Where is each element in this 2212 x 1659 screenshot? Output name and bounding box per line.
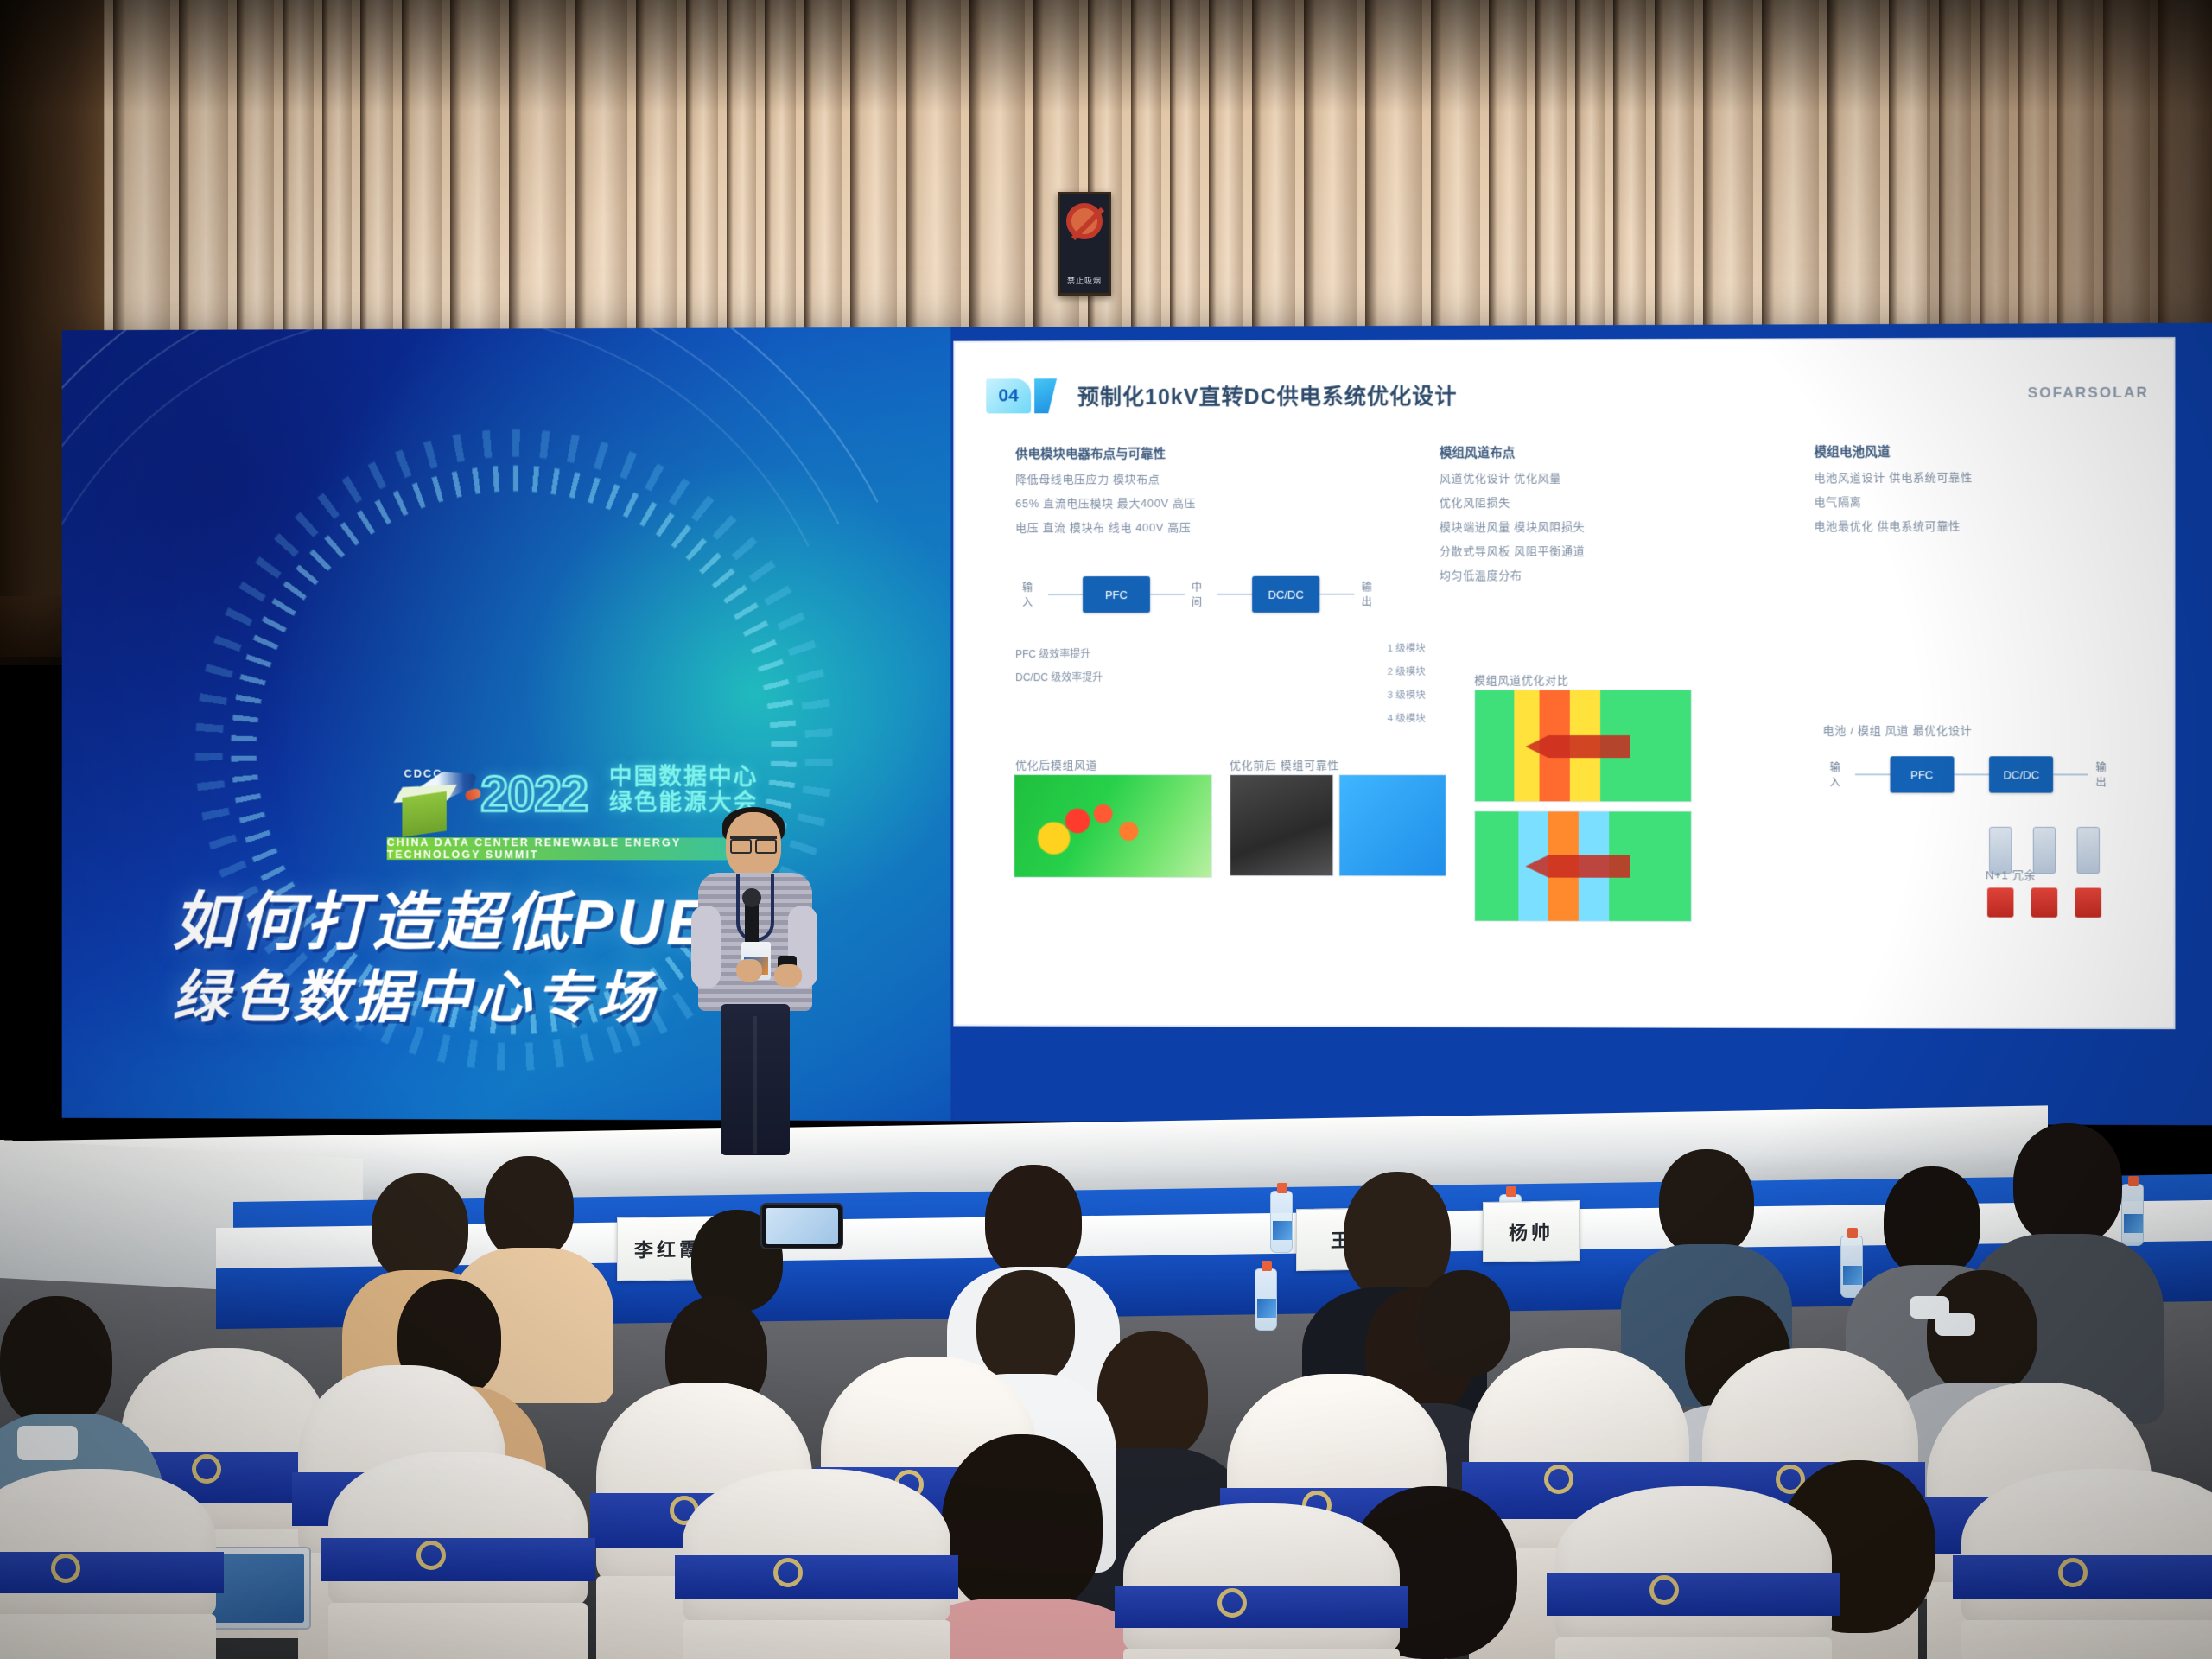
name-placard-text: 杨帅 xyxy=(1509,1217,1554,1246)
block-diagram-mid-label: 中间 xyxy=(1192,580,1211,609)
conference-photo-scene: 禁止吸烟 CDCC xyxy=(0,0,2212,1659)
backdrop-grid-floor xyxy=(62,1084,956,1125)
audience-head xyxy=(1659,1149,1754,1256)
water-bottle xyxy=(2121,1184,2144,1246)
slide-corner-logo: SOFARSOLAR xyxy=(2028,385,2149,403)
block-diagram-input-label: 输入 xyxy=(1022,580,1041,609)
battery-diagram-wire xyxy=(2054,773,2089,775)
slide-mini-item: 3 级模块 xyxy=(1388,688,1426,702)
slide-subheading-1: 优化后模组风道 xyxy=(1015,756,1097,772)
chair-skirt xyxy=(1961,1620,2212,1659)
audience-chair xyxy=(328,1452,588,1659)
slide-bullet: DC/DC 级效率提升 xyxy=(1015,670,1274,684)
battery-module-red xyxy=(2075,888,2101,918)
presentation-slide: 04 预制化10kV直转DC供电系统优化设计 SOFARSOLAR 供电模块电器… xyxy=(955,339,2173,1027)
audience-head xyxy=(985,1165,1082,1279)
slide-column-1-line: 降低母线电压应力 模块布点 xyxy=(1015,469,1378,486)
slide-column-2-line: 分散式导风板 风阻平衡通道 xyxy=(1440,542,1762,559)
block-diagram-stage-pfc: PFC xyxy=(1083,576,1150,613)
slide-column-2-heading: 模组风道布点 xyxy=(1440,442,1762,461)
airflow-arrow-icon xyxy=(1525,855,1630,878)
slide-column-2: 模组风道布点 风道优化设计 优化风量 优化风阻损失 模块端进风量 模块风阻损失 … xyxy=(1440,442,1762,582)
smartphone-recording[interactable] xyxy=(760,1203,843,1249)
no-smoking-icon xyxy=(1066,203,1103,239)
chair-back xyxy=(683,1469,950,1629)
audience-head xyxy=(2013,1123,2122,1246)
speaker-presenter xyxy=(691,812,821,1158)
slide-mini-item: 1 级模块 xyxy=(1388,641,1426,655)
water-bottle xyxy=(1840,1236,1863,1298)
chair-sash xyxy=(0,1552,224,1593)
audience-chair xyxy=(1555,1486,1832,1659)
battery-diagram-input-label: 输入 xyxy=(1830,760,1848,789)
chair-buckle-ring xyxy=(1217,1588,1247,1618)
slide-subheading-2: 优化前后 模组可靠性 xyxy=(1230,756,1339,772)
slide-column-2-line: 均匀低温度分布 xyxy=(1440,566,1762,583)
face-mask xyxy=(1910,1296,1949,1319)
battery-diagram-note: N+1 冗余 xyxy=(1986,866,2036,882)
chair-buckle-ring xyxy=(51,1554,80,1583)
slide-column-1: 供电模块电器布点与可靠性 降低母线电压应力 模块布点 65% 直流电压模块 最大… xyxy=(1015,443,1378,535)
slide-subheading-4: 电池 / 模组 风道 最优化设计 xyxy=(1823,721,1973,738)
battery-module-red xyxy=(1987,887,2013,917)
audience-head xyxy=(0,1296,112,1427)
slide-block-diagram: 输入 PFC 中间 DC/DC 输出 xyxy=(1015,560,1387,630)
block-diagram-wire xyxy=(1150,594,1185,595)
chair-skirt xyxy=(1555,1637,1832,1659)
led-backdrop-screen: CDCC 2022 中国数据中心 绿色能源大会 CHINA DATA CENTE… xyxy=(62,323,2212,1126)
slide-column-2-line: 优化风阻损失 xyxy=(1440,493,1762,511)
slide-column-2-line: 模块端进风量 模块风阻损失 xyxy=(1440,518,1762,535)
audience-chair xyxy=(1961,1469,2212,1659)
audience-chair xyxy=(1123,1503,1400,1659)
slide-column-2-line: 风道优化设计 优化风量 xyxy=(1440,468,1762,486)
slide-header: 04 预制化10kV直转DC供电系统优化设计 SOFARSOLAR xyxy=(986,368,2149,420)
chair-back xyxy=(1555,1486,1832,1646)
battery-diagram-wire xyxy=(1854,773,1890,775)
slide-mini-list: 1 级模块 2 级模块 3 级模块 4 级模块 xyxy=(1388,641,1426,734)
chair-sash xyxy=(675,1555,959,1599)
chair-buckle-ring xyxy=(2058,1558,2088,1587)
slide-thumb-blue-panel xyxy=(1338,774,1446,876)
block-diagram-output-label: 输出 xyxy=(1362,580,1381,609)
wall-top-shadow xyxy=(0,0,2212,112)
audience-head xyxy=(372,1173,468,1282)
airflow-arrow-icon xyxy=(1525,735,1630,758)
audience-head xyxy=(484,1156,574,1260)
slide-column-3-line: 电气隔离 xyxy=(1814,493,2129,510)
event-year: 2022 xyxy=(480,766,588,823)
slide-column-3: 模组电池风道 电池风道设计 供电系统可靠性 电气隔离 电池最优化 供电系统可靠性 xyxy=(1814,442,2129,533)
chair-back xyxy=(0,1469,216,1623)
slide-bullet: PFC 级效率提升 xyxy=(1015,646,1274,661)
slide-subheading-3: 模组风道优化对比 xyxy=(1474,671,1569,688)
audience-head xyxy=(1884,1166,1980,1277)
audience-head xyxy=(942,1434,1103,1616)
slide-mini-item: 4 级模块 xyxy=(1388,711,1426,725)
slide-column-1-line: 65% 直流电压模块 最大400V 高压 xyxy=(1015,493,1378,511)
chair-buckle-ring xyxy=(1649,1575,1679,1605)
chair-back xyxy=(328,1452,588,1611)
water-bottle xyxy=(1270,1191,1293,1253)
logo-cube xyxy=(402,791,446,837)
event-name-cn-line1: 中国数据中心 xyxy=(609,764,769,790)
slide-battery-diagram: 输入 PFC DC/DC 输出 xyxy=(1823,748,2121,801)
battery-unit xyxy=(2033,827,2056,874)
slide-mini-item: 2 级模块 xyxy=(1388,664,1426,678)
chair-sash xyxy=(1547,1573,1840,1616)
slide-column-1-line: 电压 直流 模块布 线电 400V 高压 xyxy=(1015,518,1378,535)
speaker-left-hand xyxy=(736,959,762,982)
water-bottle xyxy=(1255,1268,1277,1331)
slide-column-1-heading: 供电模块电器布点与可靠性 xyxy=(1015,443,1378,462)
slide-column-3-line: 电池最优化 供电系统可靠性 xyxy=(1814,517,2129,534)
block-diagram-wire xyxy=(1217,594,1252,595)
slide-section-number: 04 xyxy=(986,378,1031,413)
slide-column-3-heading: 模组电池风道 xyxy=(1814,442,2129,461)
chair-skirt xyxy=(1123,1649,1400,1659)
slide-thumb-airflow-2 xyxy=(1474,810,1692,922)
speaker-legs xyxy=(721,1004,790,1155)
slide-thumb-airflow-1 xyxy=(1474,690,1692,803)
chair-skirt xyxy=(683,1620,950,1659)
block-diagram-wire xyxy=(1048,594,1083,595)
chair-sash xyxy=(1115,1586,1408,1628)
speaker-right-hand xyxy=(774,964,802,987)
audience-chair xyxy=(0,1469,216,1659)
battery-diagram-stage-dcdc: DC/DC xyxy=(1989,756,2054,792)
slide-column-3-line: 电池风道设计 供电系统可靠性 xyxy=(1814,467,2129,485)
no-smoking-sign: 禁止吸烟 xyxy=(1058,192,1111,296)
chair-skirt xyxy=(328,1603,588,1659)
chair-back xyxy=(1123,1503,1400,1657)
chair-buckle-ring xyxy=(416,1541,446,1570)
slide-bullet-list: PFC 级效率提升 DC/DC 级效率提升 xyxy=(1015,646,1274,693)
battery-module-red xyxy=(2031,887,2057,917)
block-diagram-wire xyxy=(1319,594,1354,595)
eyeglasses-icon xyxy=(730,836,777,848)
slide-title: 预制化10kV直转DC供电系统优化设计 xyxy=(1077,379,1457,411)
chair-sash xyxy=(321,1538,595,1581)
battery-unit xyxy=(2077,827,2100,874)
chair-skirt xyxy=(0,1614,216,1659)
speaker-left-arm xyxy=(691,906,721,988)
slide-thumb-dark-rack xyxy=(1230,774,1333,876)
chair-back xyxy=(1961,1469,2212,1629)
battery-diagram-wire xyxy=(1954,773,1989,775)
slide-thumb-cfd-thermal xyxy=(1014,774,1212,878)
audience-chair xyxy=(683,1469,950,1659)
cdcc-logo-icon: CDCC xyxy=(391,767,480,836)
battery-diagram-stage-pfc: PFC xyxy=(1890,756,1954,792)
chair-buckle-ring xyxy=(773,1558,803,1587)
battery-diagram-output-label: 输出 xyxy=(2095,760,2113,789)
block-diagram-stage-dcdc: DC/DC xyxy=(1252,576,1319,613)
face-mask xyxy=(17,1426,78,1460)
slide-flag-shape xyxy=(1034,378,1057,413)
name-placard: 杨帅 xyxy=(1483,1200,1580,1262)
no-smoking-sign-label: 禁止吸烟 xyxy=(1067,275,1102,286)
